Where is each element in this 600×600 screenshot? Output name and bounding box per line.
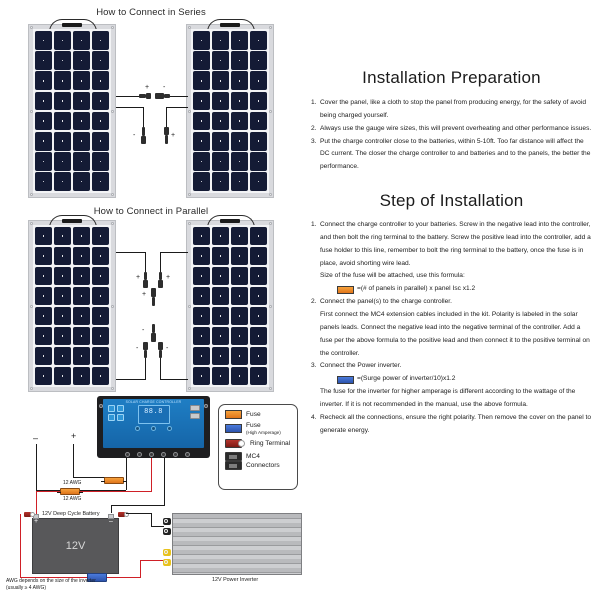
step-3-body: The fuse for the inverter for higher amp… xyxy=(320,386,592,412)
wire-cc-load-down xyxy=(164,458,165,505)
legend-item-fuse: Fuse xyxy=(225,410,291,419)
ring-terminal-battery-neg xyxy=(118,512,125,517)
wire-par-top-left-v xyxy=(145,252,146,274)
battery-neg-sign: – xyxy=(109,518,113,525)
fuse-high-amperage-icon xyxy=(225,424,242,433)
prep-text-3: Put the charge controller close to the b… xyxy=(320,136,592,175)
ring-terminal-battery-pos xyxy=(24,512,31,517)
legend-label-ring-terminal: Ring Terminal xyxy=(250,440,290,447)
redwire-batt-pos-down xyxy=(20,514,21,578)
wire-cc-pos-down xyxy=(151,458,152,491)
lcd-value: 88.8 xyxy=(139,407,169,415)
wire-series-lower-left-v xyxy=(143,107,144,129)
legend-item-mc4-1: MC4 xyxy=(225,452,291,461)
awg-note: AWG depends on the size of the inverter … xyxy=(6,578,96,593)
usb-port-1[interactable] xyxy=(190,405,200,411)
inverter-lug-neg-2 xyxy=(163,528,171,535)
step-item-3: 3. Connect the Power inverter. xyxy=(311,360,592,373)
controller-lcd: 88.8 xyxy=(138,405,170,424)
fuse-high-amperage-icon-inline xyxy=(337,376,354,384)
controller-button-2[interactable] xyxy=(151,426,156,431)
step-3-formula-text: =(Surge power of inverter/10)x1.2 xyxy=(357,373,455,386)
fuse-orange-1 xyxy=(104,477,124,484)
preparation-item-2: 2. Always use the gauge wire sizes, this… xyxy=(311,123,592,136)
parallel-diagram-title: How to Connect in Parallel xyxy=(0,206,302,217)
controller-button-1[interactable] xyxy=(135,426,140,431)
mc4-connector-series-plus xyxy=(139,92,151,100)
sign-par-plus-2: + xyxy=(166,274,170,281)
steps-heading: Step of Installation xyxy=(311,191,592,211)
wire-load-run xyxy=(111,505,165,506)
step-1-formula-row: =(# of panels in parallel) x panel Isc x… xyxy=(337,283,592,296)
step-1-formula-intro: Size of the fuse will be attached, use t… xyxy=(320,270,592,283)
legend-item-fuse-high: Fuse (High Amperage) xyxy=(225,422,291,435)
battery-name-label: 12V Deep Cycle Battery xyxy=(42,511,100,517)
preparation-list: 1. Cover the panel, like a cloth to stop… xyxy=(311,97,592,174)
step-text-2: Connect the panel(s) to the charge contr… xyxy=(320,296,592,309)
legend-sublabel-fuse-high: (High Amperage) xyxy=(246,430,281,435)
sign-par-minus-2: - xyxy=(136,345,138,352)
awg-note-line1: AWG depends on the size of the inverter xyxy=(6,578,96,585)
prep-text-1: Cover the panel, like a cloth to stop th… xyxy=(320,97,592,123)
wire-series-lower-right-v xyxy=(166,107,167,129)
legend-label-fuse-high: Fuse xyxy=(246,422,261,429)
inverter-lug-pos-2 xyxy=(163,559,171,566)
fuse-icon xyxy=(225,410,242,419)
step-num-3: 3. xyxy=(311,360,320,373)
step-3-formula-row: =(Surge power of inverter/10)x1.2 xyxy=(337,373,592,386)
wire-panel-pos xyxy=(73,444,74,478)
step-num-1: 1. xyxy=(311,219,320,270)
series-diagram-title: How to Connect in Series xyxy=(0,7,302,18)
mc4-connector-series-out-minus xyxy=(140,127,147,144)
wire-panel-neg xyxy=(36,444,37,490)
preparation-item-1: 1. Cover the panel, like a cloth to stop… xyxy=(311,97,592,123)
awg-note-line2: (usually ≥ 4 AWG) xyxy=(6,585,96,592)
prep-text-2: Always use the gauge wire sizes, this wi… xyxy=(320,123,592,136)
battery-status-icon xyxy=(108,405,115,412)
wire-load-drop xyxy=(111,505,112,513)
wire-batt-neg-inv-h2 xyxy=(151,526,164,527)
legend-label-connectors: Connectors xyxy=(246,462,280,469)
instructions-column: Installation Preparation 1. Cover the pa… xyxy=(305,0,600,600)
panel-status-icon xyxy=(117,405,124,412)
sign-par-minus-3: - xyxy=(166,345,168,352)
solar-panel-right-series xyxy=(186,24,274,198)
controller-title: SOLAR CHARGE CONTROLLER xyxy=(103,400,204,404)
inverter-lug-neg-1 xyxy=(163,518,171,525)
solar-panel-left-series xyxy=(28,24,116,198)
deep-cycle-battery: 12V xyxy=(32,518,119,574)
wire-par-bot-right-v xyxy=(160,358,161,380)
mc4-par-plus-a xyxy=(142,272,149,288)
diagrams-column: How to Connect in Series xyxy=(0,0,302,600)
sign-series-out-minus: - xyxy=(133,132,135,139)
mount-screw-left xyxy=(99,404,103,408)
fuse-icon-inline xyxy=(337,286,354,294)
battery-pos-sign: + xyxy=(34,518,38,525)
step-item-2: 2. Connect the panel(s) to the charge co… xyxy=(311,296,592,309)
mc4-connector-series-out-plus xyxy=(163,127,170,144)
terminal-port-2 xyxy=(137,452,142,457)
fuse-orange-2 xyxy=(60,488,80,495)
ring-terminal-icon xyxy=(225,439,242,448)
terminal-port-4 xyxy=(161,452,166,457)
wire-series-lower-right xyxy=(166,107,188,108)
step-2-body: First connect the MC4 extension cables i… xyxy=(320,309,592,360)
step-text-3: Connect the Power inverter. xyxy=(320,360,592,373)
mc4-par-minus-b xyxy=(157,342,164,358)
junction-box-icon xyxy=(49,19,95,29)
settings-icon xyxy=(108,414,115,421)
awg-label-1: 12 AWG xyxy=(63,480,81,486)
wire-par-top-left-h xyxy=(116,252,146,253)
step-item-4: 4. Recheck all the connections, ensure t… xyxy=(311,412,592,438)
mc4-par-plus-b xyxy=(157,272,164,288)
sign-par-minus-1: - xyxy=(142,327,144,334)
legend-label-mc4: MC4 xyxy=(246,453,260,460)
terminal-port-1 xyxy=(125,452,130,457)
lock-icon xyxy=(117,414,124,421)
prep-num-2: 2. xyxy=(311,123,320,136)
mc4-par-branch-minus xyxy=(149,324,157,342)
redwire-inv-pos-h xyxy=(140,560,164,561)
legend-label-fuse: Fuse xyxy=(246,411,261,418)
usb-port-2[interactable] xyxy=(190,413,200,419)
prep-num-1: 1. xyxy=(311,97,320,123)
junction-box-icon xyxy=(207,19,253,29)
step-text-1: Connect the charge controller to your ba… xyxy=(320,219,592,270)
inverter-lug-pos-1 xyxy=(163,549,171,556)
mc4-connector-series-minus xyxy=(155,92,170,100)
wiring-neg-sign: – xyxy=(33,434,38,443)
redwire-pos-drop xyxy=(36,491,37,514)
controller-button-3[interactable] xyxy=(167,426,172,431)
inverter-label: 12V Power Inverter xyxy=(212,577,258,583)
legend-item-mc4-2: Connectors xyxy=(225,461,291,470)
wire-par-bot-left-v xyxy=(145,358,146,380)
step-text-4: Recheck all the connections, ensure the … xyxy=(320,412,592,438)
step-num-2: 2. xyxy=(311,296,320,309)
mount-screw-right xyxy=(204,404,208,408)
terminal-port-3 xyxy=(149,452,154,457)
sign-series-plus: + xyxy=(145,84,149,91)
steps-list: 1. Connect the charge controller to your… xyxy=(311,219,592,437)
terminal-port-5 xyxy=(173,452,178,457)
wire-batt-neg-inv xyxy=(126,513,152,514)
preparation-item-3: 3. Put the charge controller close to th… xyxy=(311,136,592,175)
sign-par-plus-1: + xyxy=(136,274,140,281)
legend-box: Fuse Fuse (High Amperage) Ring Terminal … xyxy=(218,404,298,490)
wire-par-top-right-h xyxy=(160,252,188,253)
junction-box-icon xyxy=(49,215,95,225)
step-item-1: 1. Connect the charge controller to your… xyxy=(311,219,592,270)
solar-charge-controller: SOLAR CHARGE CONTROLLER 88.8 xyxy=(97,396,210,458)
mc4-connector-icon xyxy=(225,452,242,461)
step-num-4: 4. xyxy=(311,412,320,438)
power-inverter xyxy=(172,513,302,575)
installation-guide-page: How to Connect in Series xyxy=(0,0,600,600)
awg-label-2: 12 AWG xyxy=(63,496,81,502)
junction-box-icon xyxy=(207,215,253,225)
solar-panel-right-parallel xyxy=(186,220,274,392)
wire-series-lower-left xyxy=(116,107,144,108)
sign-par-plus-3: + xyxy=(142,291,146,298)
mc4-par-branch-plus xyxy=(149,288,157,306)
wire-cc-neg-down xyxy=(126,458,127,490)
sign-series-minus: - xyxy=(163,84,165,91)
terminal-port-6 xyxy=(185,452,190,457)
battery-voltage-label: 12V xyxy=(33,540,118,552)
redwire-pos-run xyxy=(36,491,152,492)
preparation-heading: Installation Preparation xyxy=(311,68,592,88)
wire-par-bot-left-h xyxy=(116,379,146,380)
legend-item-ring-terminal: Ring Terminal xyxy=(225,439,291,448)
wire-series-top-right xyxy=(170,96,188,97)
wire-batt-neg-inv-v xyxy=(151,513,152,526)
step-1-formula-text: =(# of panels in parallel) x panel Isc x… xyxy=(357,283,475,296)
mc4-par-minus-a xyxy=(142,342,149,358)
prep-num-3: 3. xyxy=(311,136,320,175)
wire-par-top-right-v xyxy=(160,252,161,274)
wire-par-bot-right-h xyxy=(160,379,188,380)
wiring-pos-sign: + xyxy=(71,432,76,441)
solar-panel-left-parallel xyxy=(28,220,116,392)
mc4-connector-icon-2 xyxy=(225,461,242,470)
sign-series-out-plus: + xyxy=(171,132,175,139)
redwire-inv-pos-up xyxy=(140,560,141,578)
